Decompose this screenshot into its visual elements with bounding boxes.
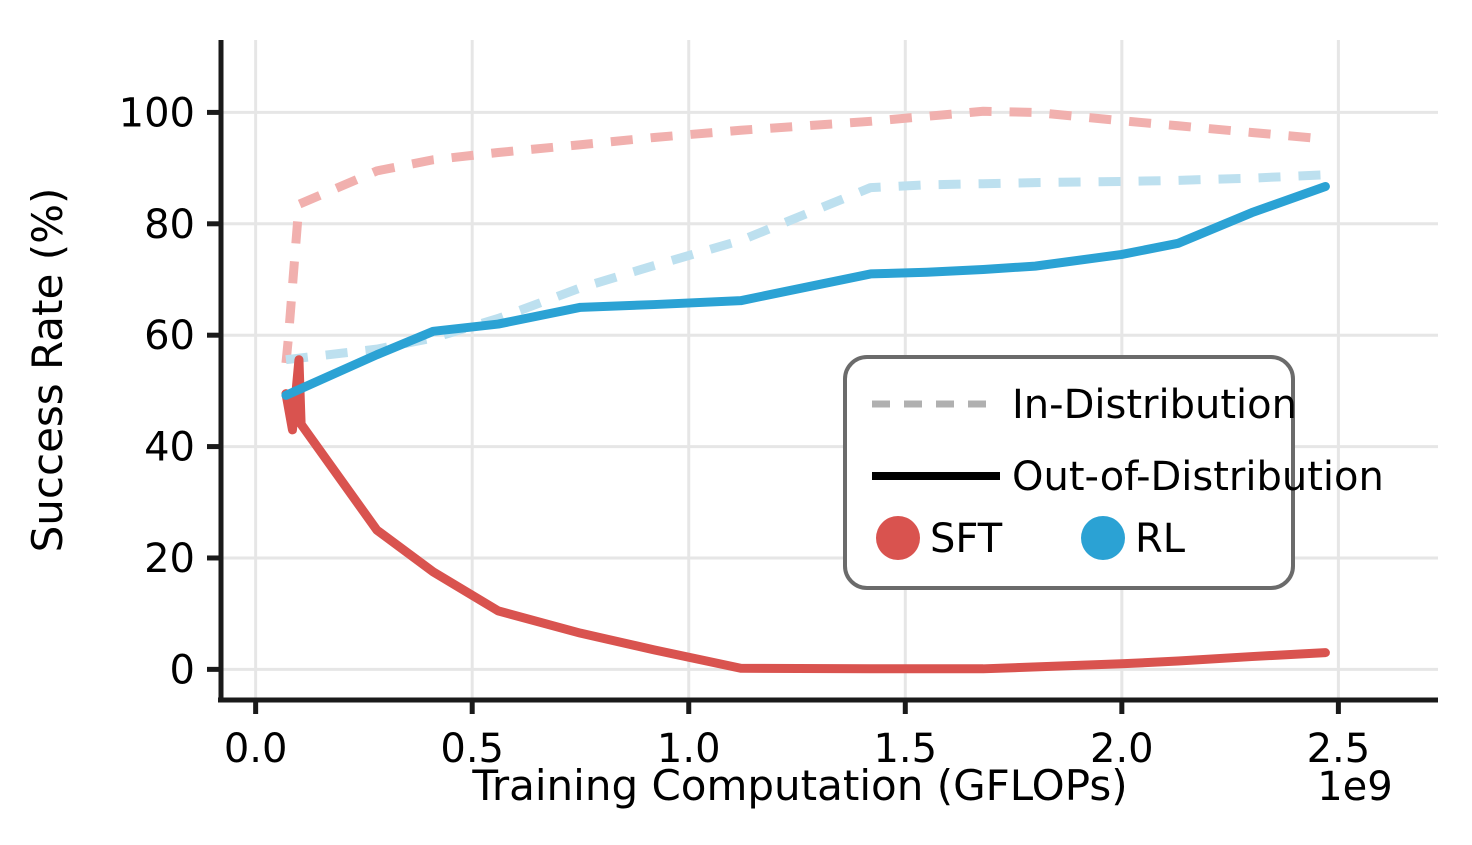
y-tick-label-4: 80 — [144, 202, 195, 248]
sft-circle-icon — [876, 516, 920, 560]
y-tick-label-5: 100 — [119, 90, 195, 136]
line-chart: 0.00.51.01.52.02.5020406080100 Training … — [0, 0, 1472, 845]
legend-label-rl: RL — [1135, 516, 1186, 562]
y-tick-label-0: 0 — [170, 647, 195, 693]
y-axis-label: Success Rate (%) — [23, 188, 72, 553]
x-tick-label-0: 0.0 — [224, 726, 288, 772]
chart-legend[interactable]: In-Distribution Out-of-Distribution SFT … — [845, 357, 1384, 588]
legend-swatch-sft[interactable]: SFT — [876, 516, 1003, 562]
y-tick-label-3: 60 — [144, 313, 195, 359]
legend-label-out-of-distribution: Out-of-Distribution — [1012, 454, 1384, 500]
rl-circle-icon — [1081, 516, 1125, 560]
x-axis-offset-label: 1e9 — [1317, 764, 1393, 810]
chart-figure: 0.00.51.01.52.02.5020406080100 Training … — [0, 0, 1472, 845]
y-tick-label-2: 40 — [144, 425, 195, 471]
x-axis-label: Training Computation (GFLOPs) — [471, 761, 1127, 810]
legend-label-sft: SFT — [930, 516, 1003, 562]
legend-label-in-distribution: In-Distribution — [1012, 382, 1297, 428]
series-line-sft-in-distribution — [286, 111, 1325, 363]
y-tick-label-1: 20 — [144, 536, 195, 582]
